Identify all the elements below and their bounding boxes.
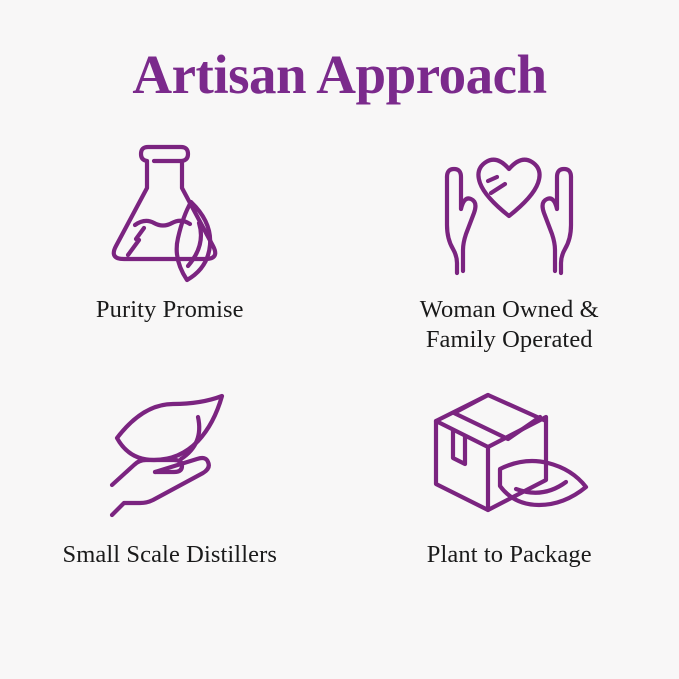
feature-label: Woman Owned & Family Operated [420, 295, 599, 355]
box-with-leaf-icon [428, 386, 590, 518]
feature-item-woman-owned: Woman Owned & Family Operated [340, 138, 679, 380]
leaf-over-open-hand-icon [106, 386, 234, 518]
feature-grid: Purity Promise [0, 138, 679, 622]
feature-item-purity-promise: Purity Promise [0, 138, 340, 380]
feature-label: Small Scale Distillers [62, 540, 277, 570]
artisan-approach-poster: Artisan Approach [0, 0, 679, 679]
feature-label-line-1: Purity Promise [96, 295, 244, 325]
feature-item-small-scale-distillers: Small Scale Distillers [0, 380, 340, 622]
feature-label-line-1: Woman Owned & [420, 295, 599, 325]
feature-label: Purity Promise [96, 295, 244, 325]
feature-label-line-2: Family Operated [420, 325, 599, 355]
page-title: Artisan Approach [132, 46, 546, 104]
hands-holding-heart-icon [425, 138, 593, 283]
feature-label: Plant to Package [427, 540, 592, 570]
feature-label-line-1: Small Scale Distillers [62, 540, 277, 570]
feature-item-plant-to-package: Plant to Package [340, 380, 679, 622]
feature-label-line-1: Plant to Package [427, 540, 592, 570]
flask-with-leaf-icon [105, 138, 235, 283]
